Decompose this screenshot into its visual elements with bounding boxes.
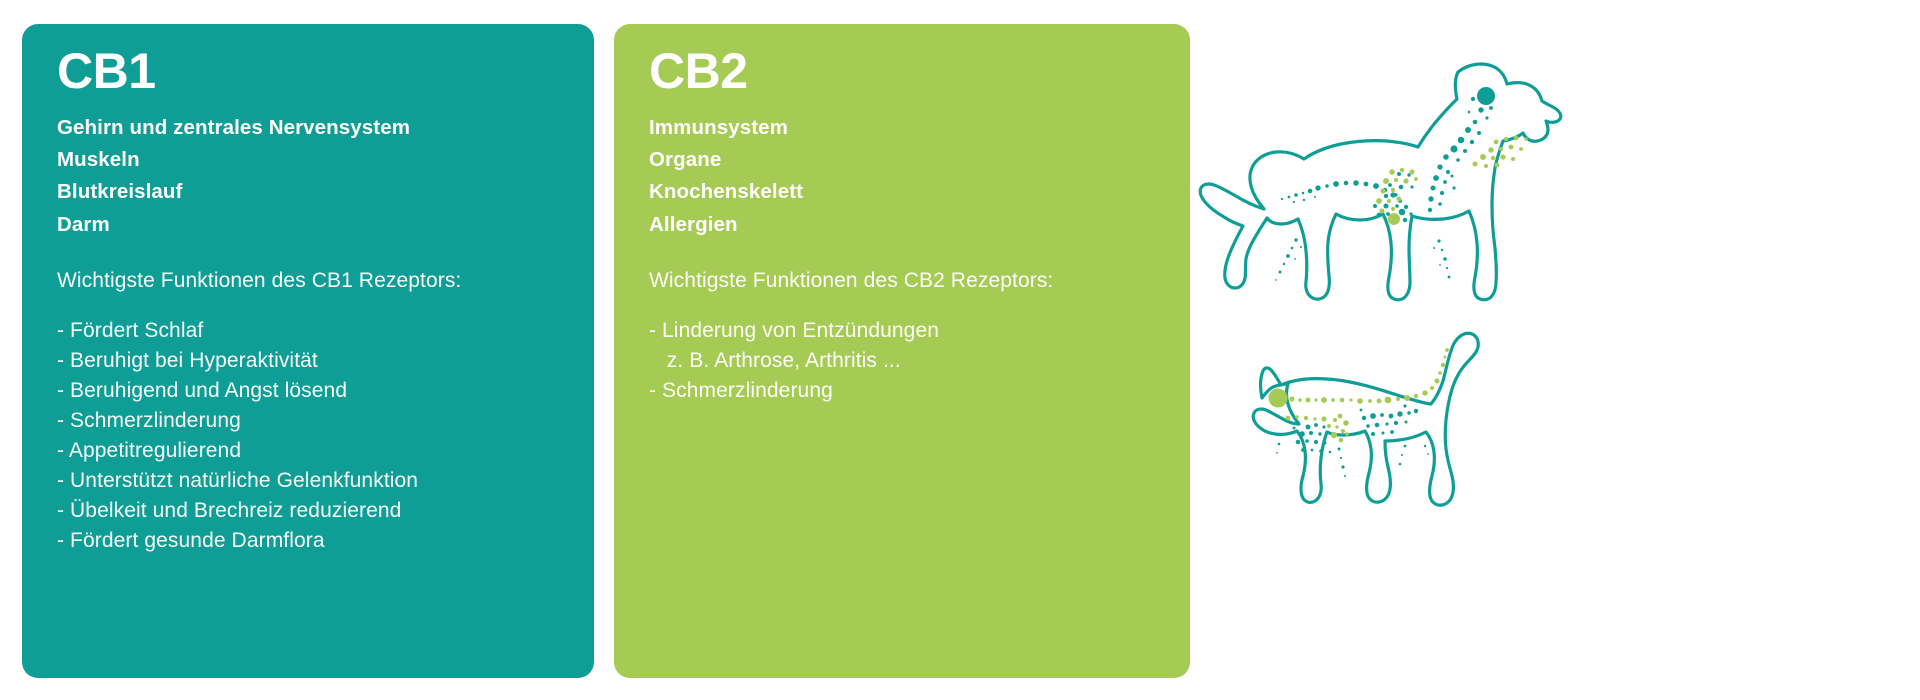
- cb2-subject-item: Organe: [649, 144, 1170, 176]
- cb1-function-item: - Beruhigend und Angst lösend: [57, 376, 574, 406]
- cb1-subject-item: Darm: [57, 209, 574, 241]
- cat-illustration: [1240, 322, 1540, 516]
- cb2-subject-item: Knochenskelett: [649, 176, 1170, 208]
- cb1-section-heading: Wichtigste Funktionen des CB1 Rezeptors:: [57, 267, 574, 294]
- cb2-function-item: z. B. Arthrose, Arthritis ...: [649, 346, 1170, 376]
- dog-outline-icon: [1200, 64, 1561, 300]
- cb1-title: CB1: [57, 46, 574, 96]
- cb2-subject-list: Immunsystem Organe Knochenskelett Allerg…: [649, 112, 1170, 241]
- infographic-stage: CB1 Gehirn und zentrales Nervensystem Mu…: [0, 0, 1920, 700]
- cb1-function-item: - Beruhigt bei Hyperaktivität: [57, 346, 574, 376]
- cb1-function-item: - Übelkeit und Brechreiz reduzierend: [57, 496, 574, 526]
- cb2-function-list: - Linderung von Entzündungen z. B. Arthr…: [649, 316, 1170, 406]
- cat-midsection-dots-teal: [1360, 404, 1419, 436]
- cb1-function-item: - Appetitregulierend: [57, 436, 574, 466]
- cat-spine-dots-green: [1289, 348, 1449, 404]
- cb1-function-item: - Fördert Schlaf: [57, 316, 574, 346]
- cb2-card: CB2 Immunsystem Organe Knochenskelett Al…: [614, 24, 1190, 678]
- cb2-section-heading: Wichtigste Funktionen des CB2 Rezeptors:: [649, 267, 1170, 294]
- cb2-function-item: - Schmerzlinderung: [649, 376, 1170, 406]
- cat-head-marker-icon: [1269, 389, 1288, 408]
- dog-shoulder-dots: [1428, 164, 1456, 212]
- cb2-title: CB2: [649, 46, 1170, 96]
- cb1-card: CB1 Gehirn und zentrales Nervensystem Mu…: [22, 24, 594, 678]
- cb1-function-item: - Unterstützt natürliche Gelenkfunktion: [57, 466, 574, 496]
- cb1-subject-item: Blutkreislauf: [57, 176, 574, 208]
- cb1-subject-list: Gehirn und zentrales Nervensystem Muskel…: [57, 112, 574, 241]
- cb1-function-item: - Schmerzlinderung: [57, 406, 574, 436]
- cb2-subject-item: Immunsystem: [649, 112, 1170, 144]
- cb1-function-list: - Fördert Schlaf - Beruhigt bei Hyperakt…: [57, 316, 574, 556]
- cb2-subject-item: Allergien: [649, 209, 1170, 241]
- cat-leg-dots: [1276, 443, 1429, 477]
- dog-head-marker-icon: [1468, 87, 1495, 124]
- cb1-card-content: CB1 Gehirn und zentrales Nervensystem Mu…: [57, 46, 574, 556]
- dog-neck-dots: [1443, 127, 1481, 162]
- cb1-subject-item: Muskeln: [57, 144, 574, 176]
- dog-illustration: [1196, 54, 1568, 306]
- cb1-function-item: - Fördert gesunde Darmflora: [57, 526, 574, 556]
- cb2-function-item: - Linderung von Entzündungen: [649, 316, 1170, 346]
- cb1-subject-item: Gehirn und zentrales Nervensystem: [57, 112, 574, 144]
- cb2-card-content: CB2 Immunsystem Organe Knochenskelett Al…: [649, 46, 1170, 406]
- dog-hindleg-dots: [1275, 238, 1302, 281]
- dog-foreleg-dots: [1433, 239, 1450, 278]
